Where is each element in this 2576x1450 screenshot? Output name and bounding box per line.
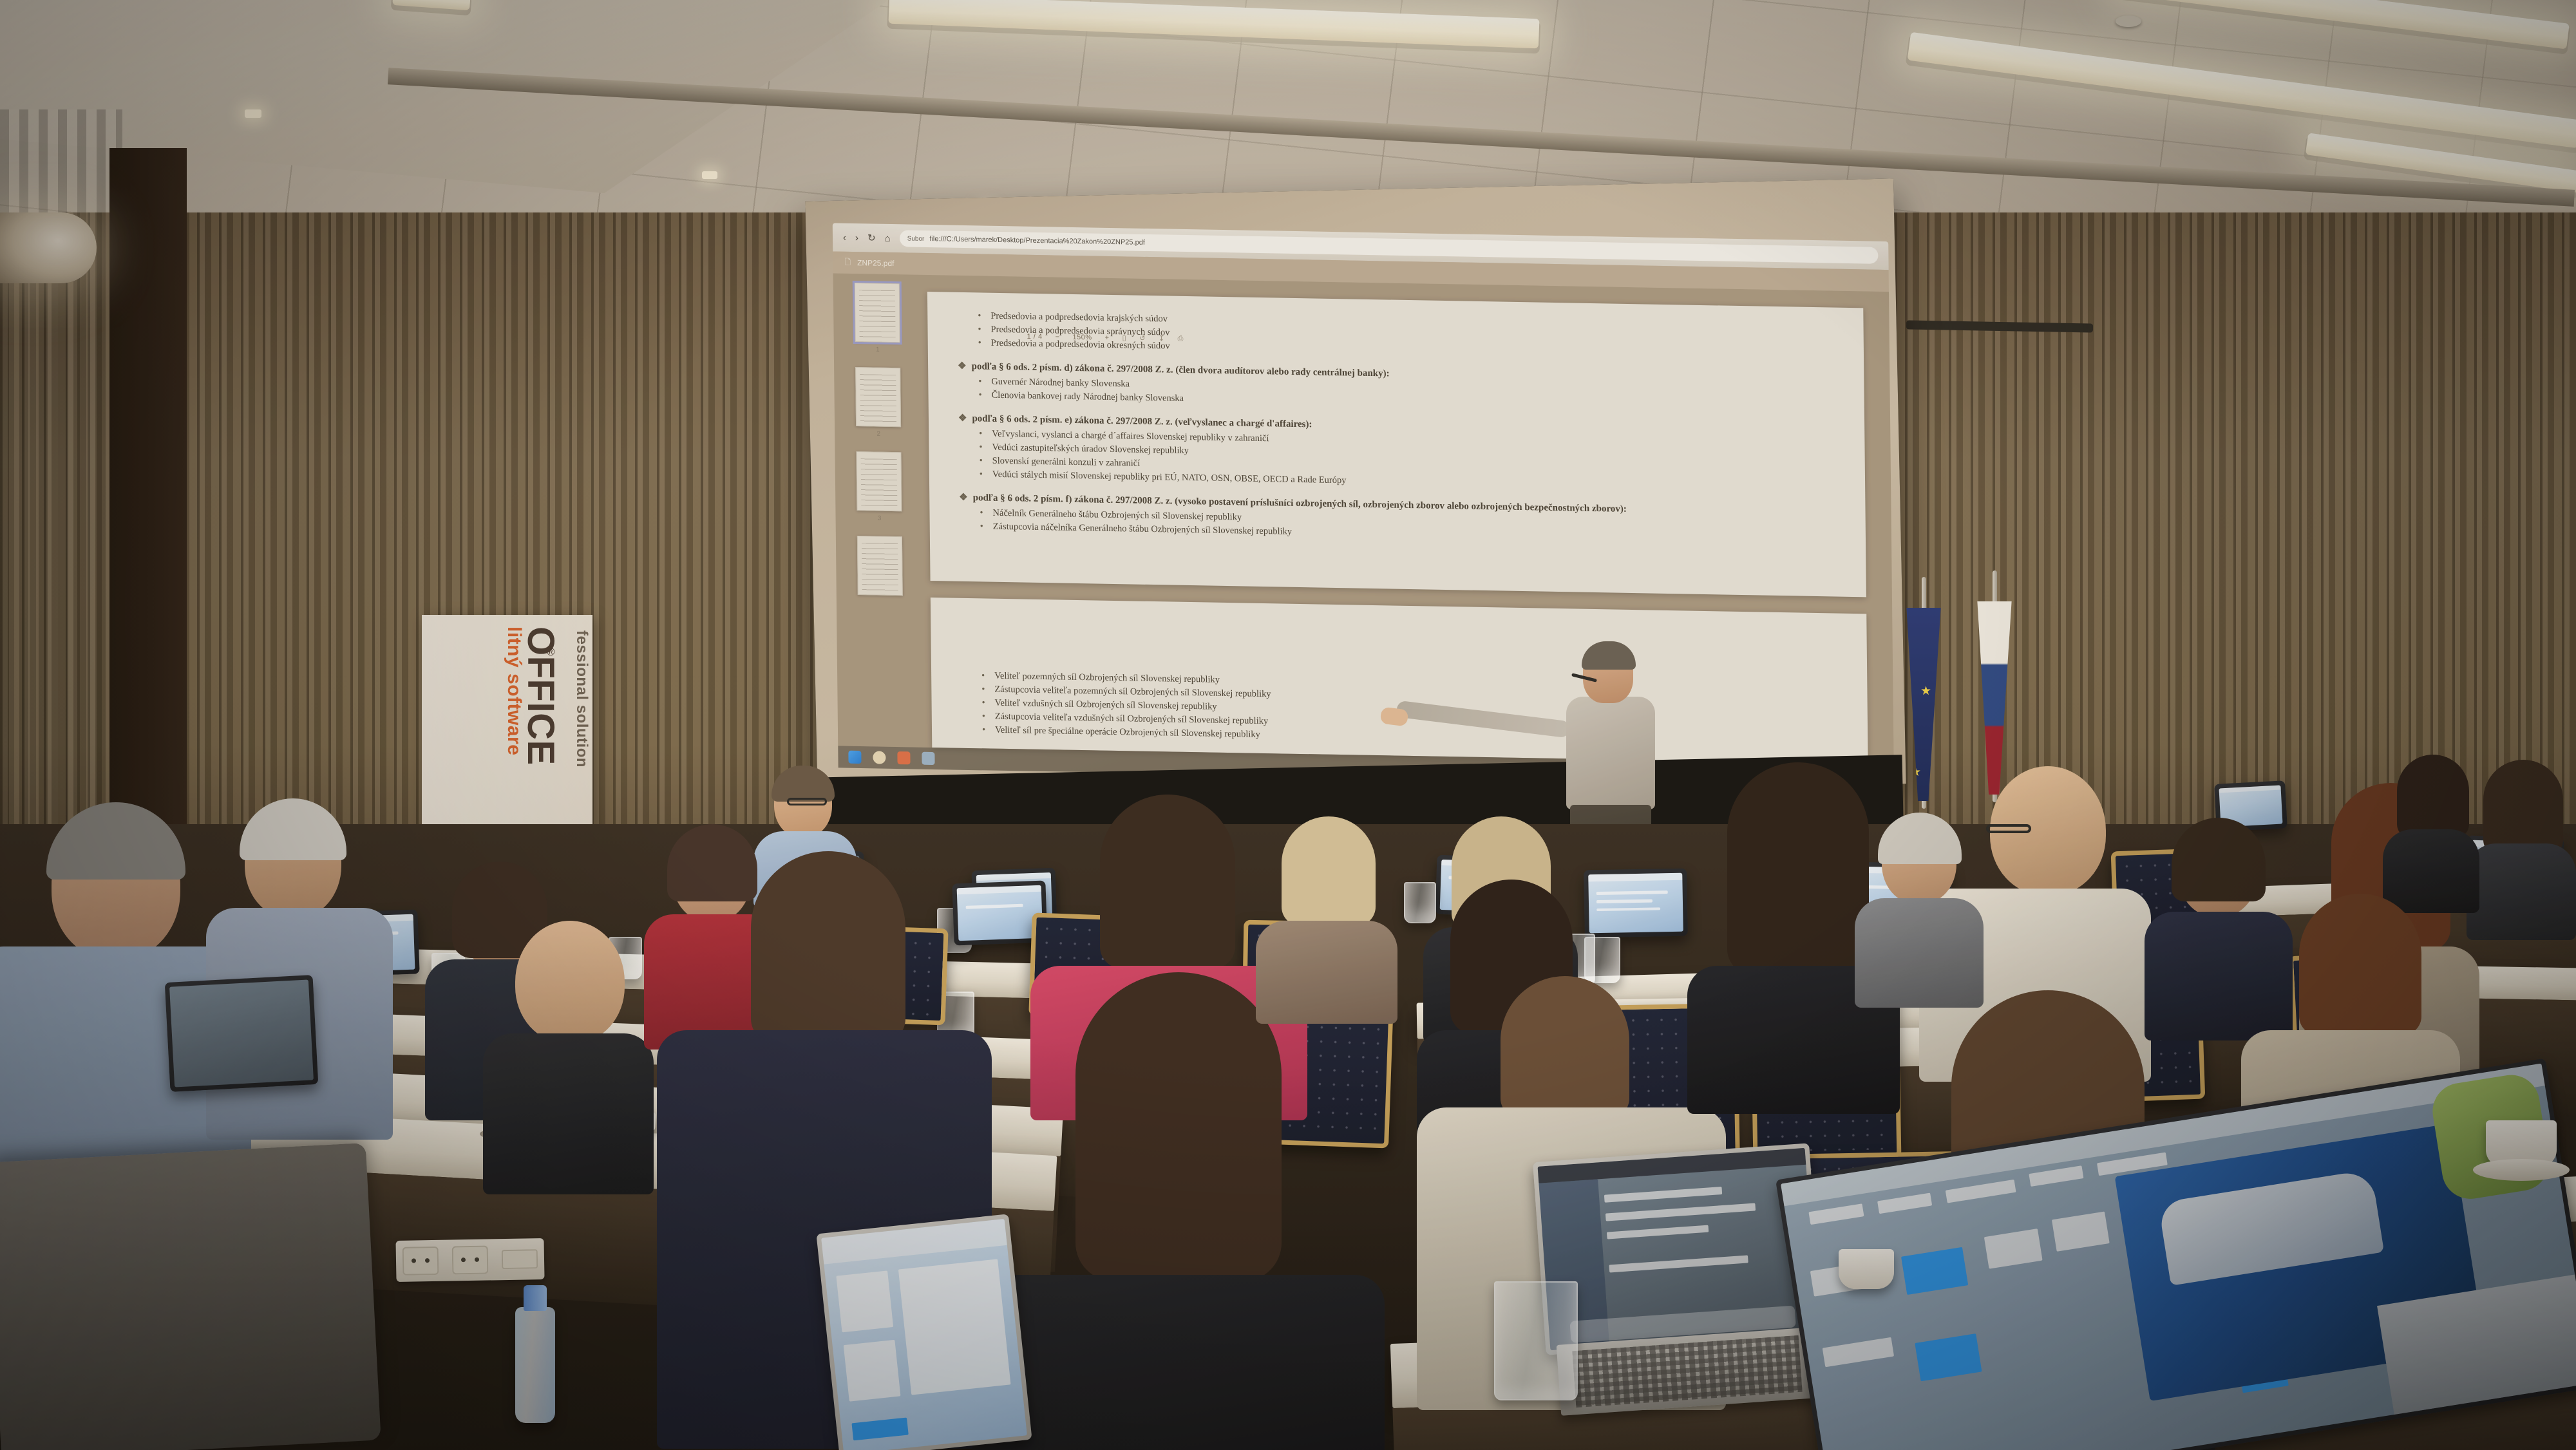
hair (2397, 755, 2469, 838)
conference-room-scene: ‹ › ↻ ⌂ Subor file:///C:/Users/marek/Des… (0, 0, 2576, 1450)
cut-off-bullet-list: Predsedovia a podpredsedovia krajských s… (976, 309, 1838, 364)
pdf-thumbnail-number: 3 (878, 514, 882, 522)
attendee-blonde (1256, 824, 1397, 1017)
pdf-thumbnail[interactable] (857, 536, 903, 596)
secure-label: Subor (907, 235, 925, 242)
pdf-thumbnail-number: 2 (877, 430, 881, 437)
power-socket-icon[interactable] (402, 1247, 439, 1276)
hair (1100, 795, 1235, 968)
back-arrow-icon[interactable]: ‹ (843, 232, 846, 243)
pdf-viewer[interactable]: 1 2 3 1 / 4 − 150% + ▯ ↺ ↧ ⎙ (833, 273, 1894, 764)
torso (2383, 829, 2479, 913)
browser-app-icon[interactable] (922, 751, 935, 764)
attendee-left-grey-hair (200, 805, 393, 1140)
address-bar-url: file:///C:/Users/marek/Desktop/Prezentac… (929, 235, 1145, 247)
pdf-thumbnail-rail[interactable]: 1 2 3 (833, 273, 916, 747)
hair (772, 766, 835, 802)
projected-browser-window[interactable]: ‹ › ↻ ⌂ Subor file:///C:/Users/marek/Des… (833, 223, 1895, 786)
hair (1727, 762, 1869, 975)
pdf-thumbnail[interactable] (855, 283, 900, 343)
attendee-far-right-a (2467, 766, 2576, 934)
eyeglasses-icon (1986, 824, 2031, 833)
hair (2172, 818, 2266, 901)
hair (2299, 894, 2421, 1035)
dark-doorway (109, 148, 187, 824)
hair (46, 802, 185, 880)
forward-arrow-icon[interactable]: › (855, 232, 858, 243)
diamond-bullet-icon: ❖ (958, 361, 967, 372)
power-socket-panel[interactable] (395, 1238, 544, 1282)
projection-screen: ‹ › ↻ ⌂ Subor file:///C:/Users/marek/Des… (805, 178, 1906, 806)
diamond-bullet-icon: ❖ (958, 413, 967, 424)
presenter-torso (1566, 697, 1655, 809)
torso (1256, 921, 1397, 1024)
eyeglasses-icon (787, 798, 827, 805)
pdf-thumbnail[interactable] (855, 367, 901, 427)
smoke-detector-icon (2116, 15, 2141, 27)
wall-lamp-icon (0, 212, 97, 283)
hair (240, 798, 346, 860)
downlight-icon-2 (702, 171, 717, 179)
windows-start-icon[interactable] (849, 750, 862, 763)
laptop-front-left[interactable] (165, 975, 319, 1092)
pdf-file-icon: 🗋 (844, 256, 851, 269)
pdf-page-1: Predsedovia a podpredsedovia krajských s… (927, 292, 1866, 597)
pdf-page-stack: Predsedovia a podpredsedovia krajských s… (911, 274, 1894, 764)
banner-software-text: litný software (503, 626, 525, 755)
laptop-screen[interactable] (169, 979, 314, 1087)
attendee-grey-hair-right (1855, 818, 1984, 1004)
pdf-tab-title[interactable]: ZNP25.pdf (857, 258, 895, 268)
torso (1855, 898, 1984, 1008)
pdf-page-2: Veliteľ pozemných síl Ozbrojených síl Sl… (931, 598, 1868, 764)
laptop-lid (165, 975, 319, 1092)
attendee-bald-man (483, 921, 650, 1178)
hair (2483, 760, 2563, 856)
slide-bullet-list: Veľvyslanci, vyslanci a chargé d´affaire… (978, 427, 1839, 496)
pdf-thumbnail-number: 1 (876, 346, 880, 353)
downlight-icon-1 (245, 109, 261, 118)
laptop-foreground-tablet[interactable] (816, 1214, 1032, 1450)
hair (1282, 816, 1376, 926)
banner-tagline-text: fessional solution (573, 630, 591, 767)
diamond-bullet-icon: ❖ (959, 493, 968, 503)
foreground-chair-back[interactable] (0, 1143, 381, 1450)
office-app-icon[interactable] (898, 751, 911, 764)
reload-icon[interactable]: ↻ (867, 232, 876, 243)
laptop-screen[interactable] (821, 1219, 1027, 1450)
presenter-hair (1582, 641, 1636, 670)
hair (1075, 972, 1282, 1281)
water-glass-foreground (1494, 1281, 1578, 1400)
usb-port-icon[interactable] (501, 1249, 538, 1269)
laptop-screen[interactable] (1538, 1148, 1818, 1350)
coffee-cup (1839, 1249, 1894, 1289)
attendee-far-right-b (2383, 760, 2479, 908)
saucer (2473, 1159, 2570, 1181)
torso (2467, 843, 2576, 940)
bottle-cap (524, 1285, 547, 1311)
hair (751, 851, 905, 1044)
torso (972, 1275, 1385, 1450)
hair (1501, 976, 1629, 1118)
hair (1878, 813, 1962, 864)
water-bottle (515, 1307, 555, 1423)
banner-brand-text: OFFICE (519, 626, 562, 766)
power-socket-icon[interactable] (452, 1246, 489, 1275)
laptop-lid (816, 1214, 1032, 1450)
pdf-thumbnail[interactable] (857, 451, 902, 511)
search-icon[interactable] (873, 751, 886, 764)
home-icon[interactable]: ⌂ (885, 232, 891, 243)
eu-star-icon: ★ (1920, 684, 1931, 699)
head (515, 921, 625, 1043)
slovak-flag-cloth (1971, 601, 2018, 795)
torso (483, 1033, 654, 1194)
